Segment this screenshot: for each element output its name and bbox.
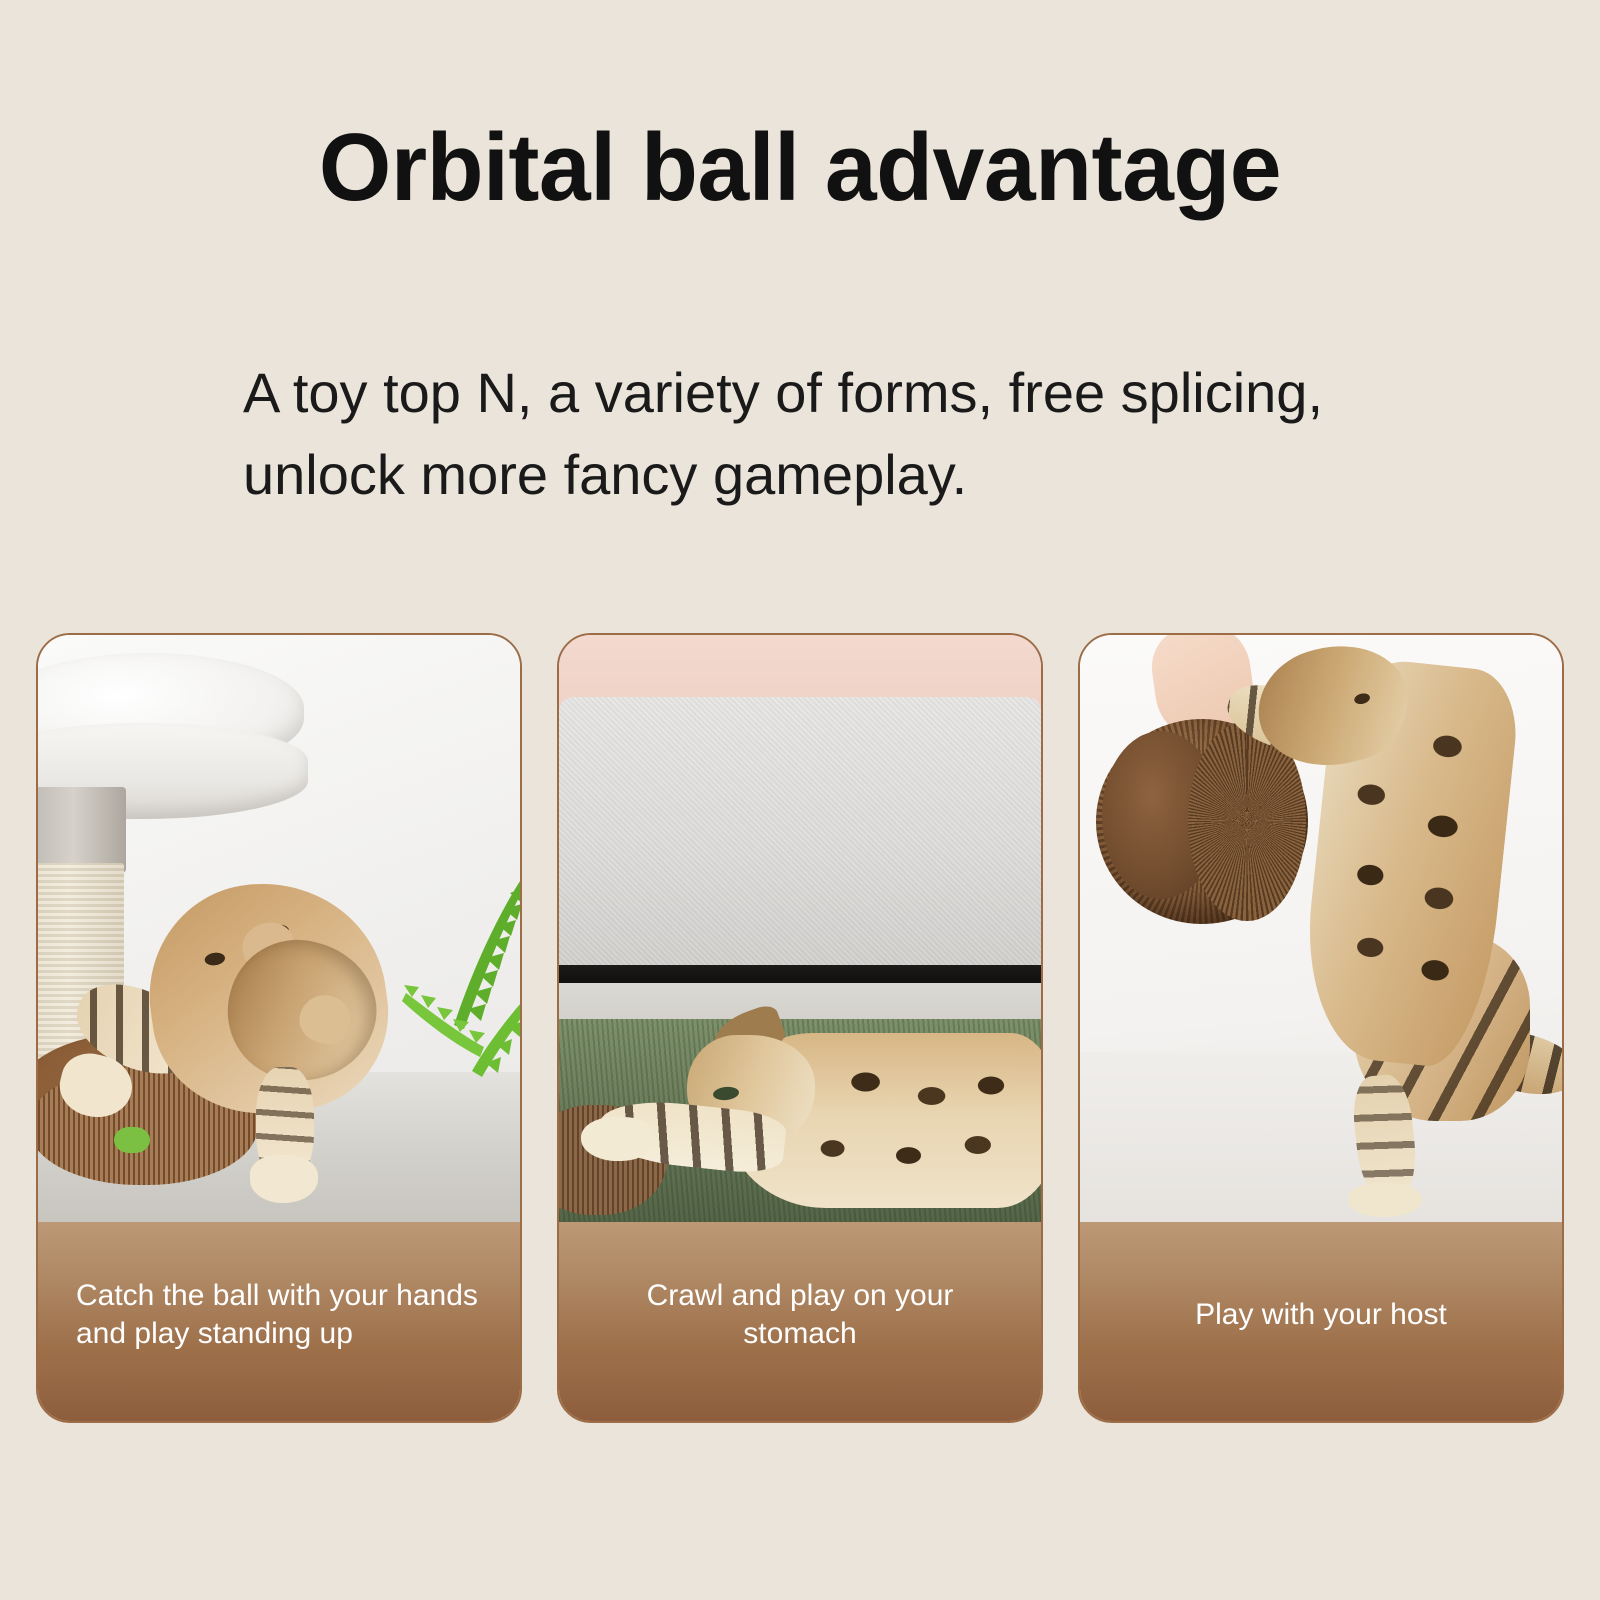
page-subtitle: A toy top N, a variety of forms, free sp…	[243, 352, 1423, 516]
feature-card-standing-play[interactable]: Catch the ball with your hands and play …	[36, 633, 522, 1423]
card-photo-standing-play	[38, 635, 520, 1222]
card-caption-bar-host-play: Play with your host	[1080, 1222, 1562, 1421]
feature-card-host-play[interactable]: Play with your host	[1078, 633, 1564, 1423]
header-block: Orbital ball advantage A toy top N, a va…	[0, 0, 1600, 216]
cat-tree-post-collar	[38, 787, 126, 873]
sofa-cushion	[559, 697, 1041, 975]
feature-card-crawl-play[interactable]: Crawl and play on your stomach	[557, 633, 1043, 1423]
card-caption-text: Catch the ball with your hands and play …	[38, 1277, 520, 1353]
fern-plant-icon	[400, 875, 520, 1135]
card-caption-text: Crawl and play on your stomach	[559, 1277, 1041, 1353]
card-caption-text: Play with your host	[1080, 1296, 1562, 1334]
cat-hind-paw	[250, 1155, 318, 1203]
page-title: Orbital ball advantage	[24, 120, 1576, 216]
card-caption-bar-crawl-play: Crawl and play on your stomach	[559, 1222, 1041, 1421]
cat-front-paw	[581, 1117, 653, 1161]
card-photo-crawl-play	[559, 635, 1041, 1222]
toy-green-bell	[114, 1127, 150, 1153]
cat-hind-paw	[1348, 1183, 1422, 1217]
feature-card-row: Catch the ball with your hands and play …	[36, 633, 1564, 1423]
card-photo-host-play	[1080, 635, 1562, 1222]
card-caption-bar-standing-play: Catch the ball with your hands and play …	[38, 1222, 520, 1421]
